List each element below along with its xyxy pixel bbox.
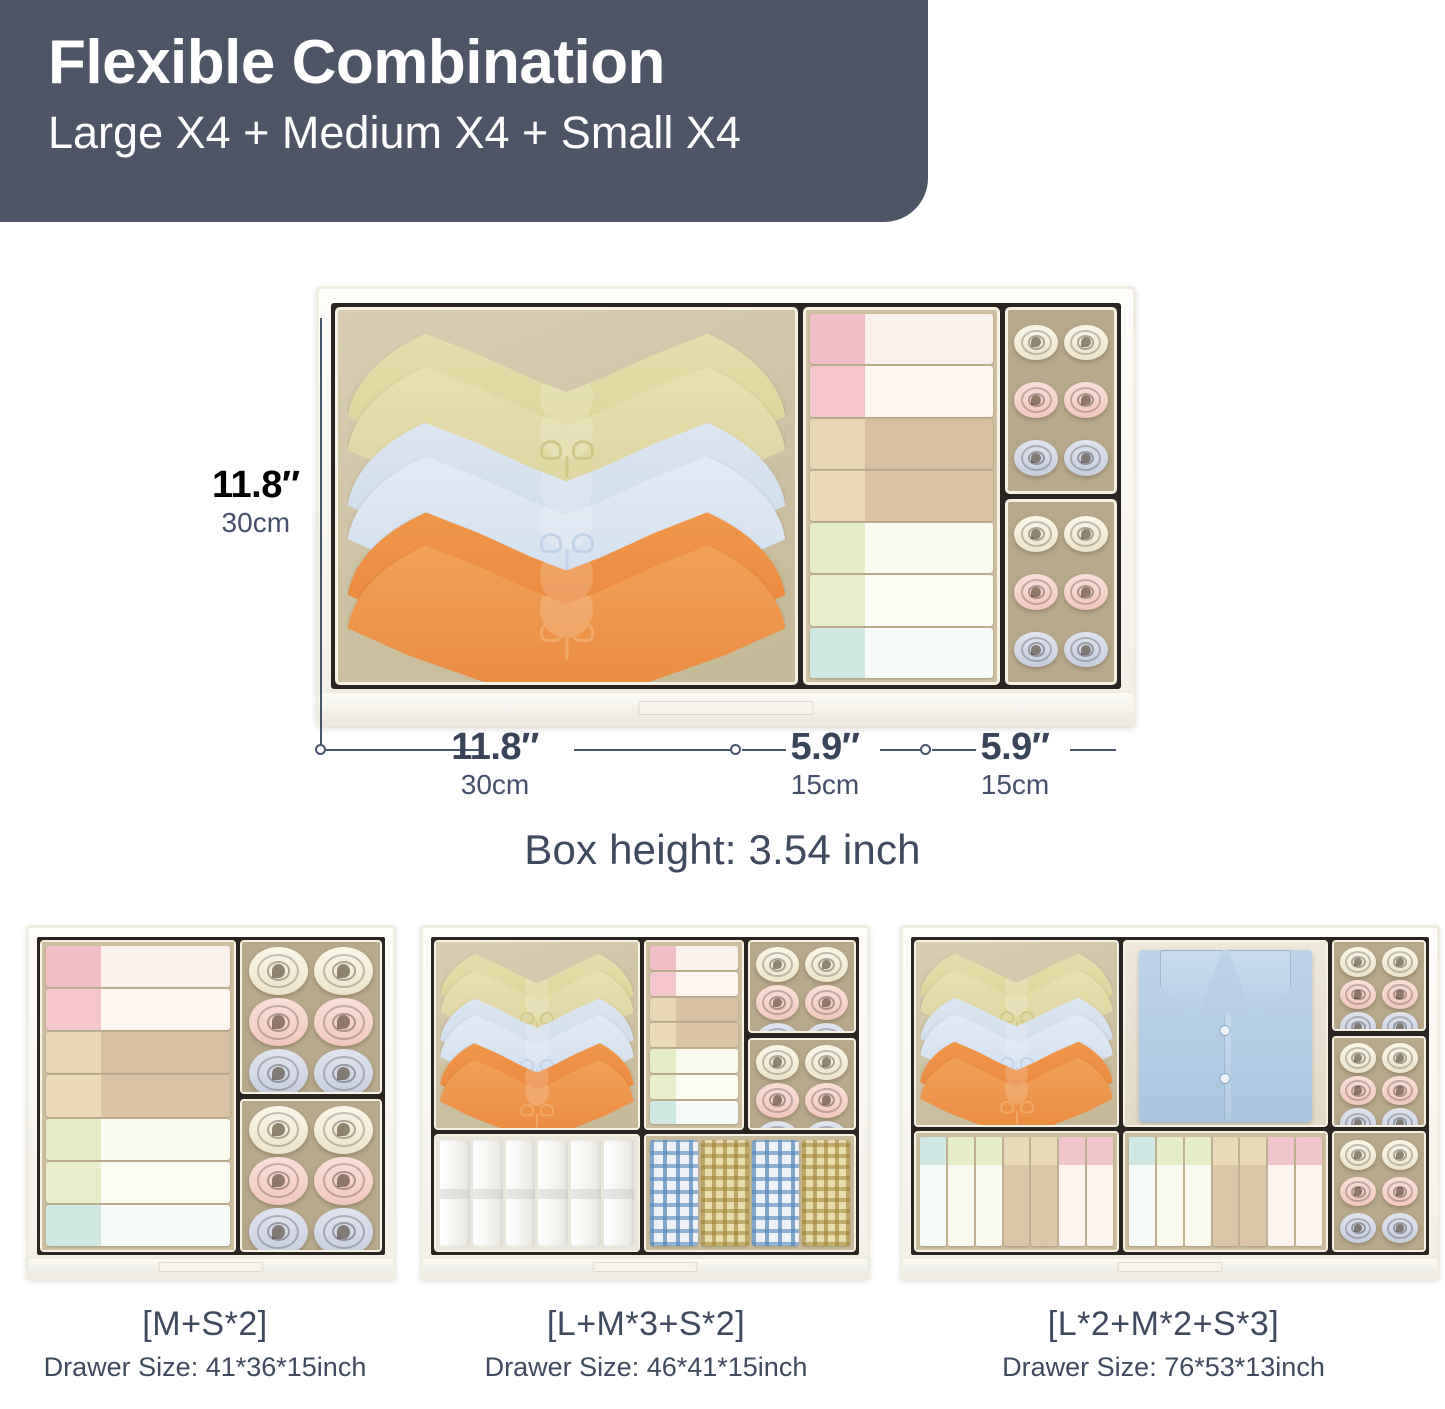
rolled-sock xyxy=(1340,1213,1376,1243)
drawer-handle xyxy=(159,1262,264,1272)
rolled-sock xyxy=(756,1083,799,1118)
dimension-line-medium-b xyxy=(880,749,924,751)
rolled-sock xyxy=(1014,516,1058,552)
rolled-sock xyxy=(1382,1213,1418,1243)
variant-2-interior xyxy=(431,937,859,1255)
compartment-medium xyxy=(803,307,1000,685)
variant-2-row-bottom xyxy=(434,1134,856,1252)
compartment-small-middle xyxy=(1332,1036,1426,1127)
rolled-sock xyxy=(805,1045,848,1080)
variant-panel-1 xyxy=(0,925,410,1280)
drawer-frame xyxy=(316,286,1136,726)
box-height-label: Box height: 3.54 inch xyxy=(0,826,1445,874)
bra-stack xyxy=(338,310,795,682)
folded-underwear-stack xyxy=(646,942,742,1128)
folded-item xyxy=(46,989,230,1030)
folded-item xyxy=(1031,1137,1057,1246)
folded-item xyxy=(1268,1137,1294,1246)
folded-item xyxy=(1059,1137,1085,1246)
shirt-collar-left xyxy=(1160,950,1222,1026)
compartment-small-bottom xyxy=(1005,499,1117,686)
dimension-label-medium: 5.9″ 15cm xyxy=(765,728,885,801)
variant-3-drawer xyxy=(900,925,1440,1280)
dimension-small-cm: 15cm xyxy=(955,769,1075,801)
folded-item xyxy=(1129,1137,1155,1246)
rolled-towel xyxy=(506,1140,536,1246)
plaid-cloth xyxy=(752,1140,800,1246)
bra-bow-icon xyxy=(540,440,594,466)
variant-2-row-top xyxy=(434,940,856,1130)
folded-item xyxy=(46,1119,230,1160)
variant-1-row xyxy=(40,940,382,1252)
rolled-sock xyxy=(1340,1012,1376,1031)
compartment-small-bottom xyxy=(240,1099,382,1253)
folded-item xyxy=(46,1032,230,1073)
rolled-sock-grid xyxy=(242,1101,380,1251)
compartment-small-bottom xyxy=(748,1038,856,1131)
rolled-sock xyxy=(249,1157,308,1205)
variant-2-code: [L+M*3+S*2] xyxy=(410,1305,882,1344)
folded-item xyxy=(46,1075,230,1116)
rolled-sock xyxy=(1382,947,1418,977)
bra-bow-icon xyxy=(540,622,594,648)
rolled-sock xyxy=(1064,574,1108,610)
dimension-label-large: 11.8″ 30cm xyxy=(415,728,575,801)
bra-stack xyxy=(436,942,638,1128)
banner-subtitle: Large X4 + Medium X4 + Small X4 xyxy=(48,105,928,161)
vertical-dimension-inch: 11.8″ xyxy=(212,466,300,504)
drawer-interior xyxy=(331,303,1121,689)
compartment-small-column xyxy=(1332,940,1426,1127)
dimension-line-large-b xyxy=(574,749,734,751)
rolled-sock xyxy=(1340,947,1376,977)
drawer-handle xyxy=(1118,1262,1223,1272)
rolled-sock xyxy=(314,947,373,995)
rolled-sock xyxy=(1340,980,1376,1010)
compartment-large-shirt xyxy=(1123,940,1328,1127)
compartment-small-column xyxy=(748,940,856,1130)
variant-2-caption: [L+M*3+S*2] Drawer Size: 46*41*15inch xyxy=(410,1305,882,1383)
compartment-small-top xyxy=(1332,940,1426,1031)
variant-1-interior xyxy=(37,937,385,1255)
folded-item xyxy=(1213,1137,1239,1246)
rolled-sock xyxy=(314,1157,373,1205)
vertical-dimension-cm: 30cm xyxy=(212,507,300,539)
bra-stack xyxy=(916,942,1117,1125)
folded-item xyxy=(1157,1137,1183,1246)
rolled-towel xyxy=(538,1140,568,1246)
folded-item xyxy=(810,471,993,521)
folded-item xyxy=(810,523,993,573)
rolled-sock xyxy=(1340,1076,1376,1106)
drawer-handle xyxy=(639,701,814,715)
rolled-sock-grid xyxy=(1008,502,1114,683)
rolled-sock-grid xyxy=(1334,1133,1424,1250)
rolled-sock xyxy=(1382,1177,1418,1207)
variant-panel-2 xyxy=(410,925,882,1280)
compartment-small-top xyxy=(1005,307,1117,494)
folded-item xyxy=(650,1075,738,1099)
rolled-sock xyxy=(1014,440,1058,476)
dimension-line-small-b xyxy=(1070,749,1116,751)
rolled-sock xyxy=(805,1121,848,1131)
plaid-cloth xyxy=(802,1140,850,1246)
rolled-sock xyxy=(805,947,848,982)
rolled-sock xyxy=(1064,440,1108,476)
rolled-sock xyxy=(1340,1140,1376,1170)
rolled-sock xyxy=(805,985,848,1020)
folded-item xyxy=(948,1137,974,1246)
rolled-sock-grid xyxy=(1334,942,1424,1029)
rolled-sock xyxy=(1382,1012,1418,1031)
variant-3-code: [L*2+M*2+S*3] xyxy=(882,1305,1445,1344)
rolled-sock xyxy=(756,1023,799,1033)
rolled-sock xyxy=(1382,1108,1418,1127)
folded-item xyxy=(810,575,993,625)
plaid-cloth xyxy=(701,1140,749,1246)
folded-item xyxy=(1004,1137,1030,1246)
folded-item xyxy=(650,972,738,996)
folded-item xyxy=(650,1049,738,1073)
vertical-dimension-line xyxy=(320,318,322,750)
rolled-sock xyxy=(1014,632,1058,668)
rolled-sock xyxy=(1014,574,1058,610)
rolled-towel xyxy=(604,1140,634,1246)
header-banner: Flexible Combination Large X4 + Medium X… xyxy=(0,0,928,222)
folded-item xyxy=(810,366,993,416)
hero-drawer xyxy=(316,286,1136,726)
folded-underwear-stack xyxy=(42,942,234,1250)
dimension-large-cm: 30cm xyxy=(415,769,575,801)
infographic-page: Flexible Combination Large X4 + Medium X… xyxy=(0,0,1445,1409)
rolled-sock xyxy=(1382,1043,1418,1073)
variant-2-drawer xyxy=(420,925,870,1280)
bra-bow-icon xyxy=(540,533,594,559)
compartment-medium xyxy=(644,940,744,1130)
folded-item xyxy=(650,1101,738,1125)
compartment-small-column xyxy=(1005,307,1117,685)
rolled-sock xyxy=(249,998,308,1046)
shirt-button xyxy=(1221,1074,1230,1083)
rolled-sock xyxy=(805,1023,848,1033)
rolled-sock-grid xyxy=(750,942,854,1031)
rolled-towel xyxy=(440,1140,470,1246)
dimension-medium-cm: 15cm xyxy=(765,769,885,801)
folded-item xyxy=(1296,1137,1322,1246)
vertical-dimension-label: 11.8″ 30cm xyxy=(212,466,300,539)
rolled-sock xyxy=(756,1045,799,1080)
rolled-sock xyxy=(1340,1108,1376,1127)
bra-bow-icon xyxy=(520,1103,553,1119)
folded-underwear-stack xyxy=(806,310,997,682)
rolled-sock xyxy=(1014,325,1058,361)
shirt-button xyxy=(1221,1026,1230,1035)
compartment-large xyxy=(914,940,1119,1127)
rolled-sock-grid xyxy=(242,942,380,1092)
folded-item xyxy=(810,628,993,678)
folded-shirt xyxy=(1125,942,1326,1125)
folded-item xyxy=(976,1137,1002,1246)
bra-bow-icon xyxy=(1000,1101,1033,1117)
vertical-folded-row xyxy=(1125,1133,1326,1250)
vertical-folded-row xyxy=(916,1133,1117,1250)
rolled-sock-grid xyxy=(1334,1038,1424,1125)
rolled-sock-grid xyxy=(750,1040,854,1129)
plaid-cloth xyxy=(650,1140,698,1246)
variant-2-drawer-size: Drawer Size: 46*41*15inch xyxy=(410,1352,882,1383)
rolled-sock xyxy=(314,1049,373,1093)
dimension-endpoint-dot xyxy=(315,744,326,755)
rolled-sock xyxy=(1014,382,1058,418)
dimension-endpoint-dot xyxy=(920,744,931,755)
folded-item xyxy=(810,419,993,469)
rolled-sock xyxy=(1340,1043,1376,1073)
compartment-medium xyxy=(40,940,236,1252)
rolled-sock xyxy=(1064,516,1108,552)
compartment-medium xyxy=(644,1134,856,1252)
rolled-towel-row xyxy=(436,1136,638,1250)
rolled-sock xyxy=(249,1208,308,1252)
compartment-small-top xyxy=(240,940,382,1094)
shirt-body xyxy=(1139,950,1312,1122)
folded-item xyxy=(650,998,738,1022)
folded-item xyxy=(46,946,230,987)
variant-3-interior xyxy=(911,937,1429,1255)
rolled-sock xyxy=(249,1106,308,1154)
rolled-sock xyxy=(805,1083,848,1118)
compartment-small-top xyxy=(748,940,856,1033)
rolled-sock-grid xyxy=(1008,310,1114,491)
folded-item xyxy=(1185,1137,1211,1246)
rolled-towel xyxy=(571,1140,601,1246)
variant-1-code: [M+S*2] xyxy=(0,1305,410,1344)
rolled-sock xyxy=(1064,325,1108,361)
variant-3-caption: [L*2+M*2+S*3] Drawer Size: 76*53*13inch xyxy=(882,1305,1445,1383)
shirt-collar-right xyxy=(1229,950,1291,1026)
rolled-sock xyxy=(249,1049,308,1093)
plaid-cloth-row xyxy=(646,1136,854,1250)
variant-3-row-top xyxy=(914,940,1426,1127)
dimension-small-inch: 5.9″ xyxy=(955,728,1075,766)
dimension-label-small: 5.9″ 15cm xyxy=(955,728,1075,801)
rolled-sock xyxy=(314,1106,373,1154)
rolled-sock xyxy=(756,985,799,1020)
compartment-large xyxy=(434,940,640,1130)
folded-item xyxy=(1240,1137,1266,1246)
folded-item xyxy=(1087,1137,1113,1246)
rolled-sock xyxy=(1064,382,1108,418)
rolled-towel xyxy=(473,1140,503,1246)
compartment-small-column xyxy=(240,940,382,1252)
variant-1-drawer-size: Drawer Size: 41*36*15inch xyxy=(0,1352,410,1383)
rolled-sock xyxy=(314,1208,373,1252)
compartment-large xyxy=(335,307,798,685)
dimension-medium-inch: 5.9″ xyxy=(765,728,885,766)
folded-item xyxy=(46,1205,230,1246)
compartment-medium xyxy=(914,1131,1119,1252)
folded-item xyxy=(650,946,738,970)
folded-item xyxy=(920,1137,946,1246)
banner-title: Flexible Combination xyxy=(48,26,928,99)
drawer-handle xyxy=(593,1262,698,1272)
rolled-sock xyxy=(1340,1177,1376,1207)
rolled-sock xyxy=(249,947,308,995)
variant-1-drawer xyxy=(26,925,396,1280)
rolled-sock xyxy=(756,947,799,982)
variant-1-caption: [M+S*2] Drawer Size: 41*36*15inch xyxy=(0,1305,410,1383)
variant-3-row-bottom xyxy=(914,1131,1426,1252)
rolled-sock xyxy=(1382,1076,1418,1106)
folded-item xyxy=(650,1023,738,1047)
rolled-sock xyxy=(1382,980,1418,1010)
dimension-large-inch: 11.8″ xyxy=(415,728,575,766)
variant-panel-3 xyxy=(882,925,1445,1280)
compartment-medium xyxy=(1123,1131,1328,1252)
compartment-medium xyxy=(434,1134,640,1252)
rolled-sock xyxy=(1382,1140,1418,1170)
rolled-sock xyxy=(756,1121,799,1131)
rolled-sock xyxy=(1064,632,1108,668)
compartment-small-bottom xyxy=(1332,1131,1426,1252)
rolled-sock xyxy=(314,998,373,1046)
folded-item xyxy=(810,314,993,364)
folded-item xyxy=(46,1162,230,1203)
dimension-endpoint-dot xyxy=(730,744,741,755)
variant-3-drawer-size: Drawer Size: 76*53*13inch xyxy=(882,1352,1445,1383)
